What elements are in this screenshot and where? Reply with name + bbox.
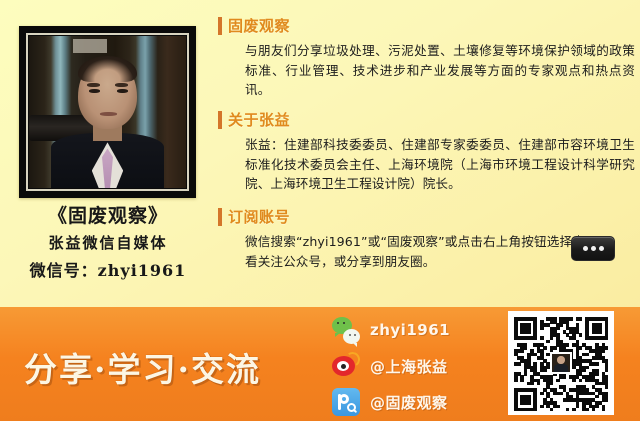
- section-subscribe: 订阅账号 微信搜索“zhyi1961”或“固废观察”或点击右上角按钮选择查看关注…: [218, 207, 638, 271]
- thumbnail-head: [557, 356, 564, 364]
- section-heading: 固废观察: [218, 16, 638, 36]
- thumbnail-body: [554, 364, 568, 372]
- profile-column: 《固废观察》 张益微信自媒体 微信号：zhyi1961: [0, 0, 216, 307]
- blue-app-icon: [332, 388, 360, 416]
- portrait-thumbnail: [550, 352, 572, 374]
- dot: [599, 246, 604, 251]
- profile-caption: 《固废观察》 张益微信自媒体 微信号：zhyi1961: [0, 203, 216, 285]
- account-subtitle: 张益微信自媒体: [0, 229, 216, 257]
- section-heading: 订阅账号: [218, 207, 638, 227]
- footer-slogan: 分享·学习·交流: [24, 343, 261, 391]
- dot: [349, 334, 351, 336]
- social-row-wechat[interactable]: zhyi1961: [332, 312, 502, 348]
- account-title: 《固废观察》: [0, 203, 216, 229]
- section-body: 微信搜索“zhyi1961”或“固废观察”或点击右上角按钮选择查看关注公众号，或…: [245, 232, 585, 271]
- social-label: zhyi1961: [370, 321, 450, 339]
- social-label: @上海张益: [370, 356, 448, 377]
- social-label: @固废观察: [370, 392, 448, 413]
- wechat-bubble-small: [343, 329, 360, 344]
- dot: [583, 246, 588, 251]
- wechat-icon: [332, 316, 360, 344]
- section-body: 与朋友们分享垃圾处理、污泥处置、土壤修复等环境保护领域的政策标准、行业管理、技术…: [245, 41, 635, 100]
- social-links: zhyi1961 @上海张益 @固废观察: [332, 312, 502, 420]
- account-wechat-id: 微信号：zhyi1961: [0, 257, 216, 285]
- magnifier-icon: [347, 403, 356, 412]
- info-column: 固废观察 与朋友们分享垃圾处理、污泥处置、土壤修复等环境保护领域的政策标准、行业…: [218, 0, 638, 307]
- section-about-zhangyi: 关于张益 张益：住建部科技委委员、住建部专家委委员、住建部市容环境卫生标准化技术…: [218, 110, 638, 194]
- promo-poster: 《固废观察》 张益微信自媒体 微信号：zhyi1961 固废观察 与朋友们分享垃…: [0, 0, 640, 421]
- social-row-weibo[interactable]: @上海张益: [332, 348, 502, 384]
- letter-p-bowl: [339, 394, 349, 404]
- section-heading: 关于张益: [218, 110, 638, 130]
- social-row-blue-app[interactable]: @固废观察: [332, 384, 502, 420]
- weibo-eye-pupil: [341, 364, 346, 369]
- weibo-icon: [332, 352, 360, 380]
- wechat-qr-code[interactable]: [508, 311, 614, 415]
- photo-inner-border: [26, 33, 189, 191]
- dot: [591, 246, 596, 251]
- dot: [354, 334, 356, 336]
- section-gufei-guancha: 固废观察 与朋友们分享垃圾处理、污泥处置、土壤修复等环境保护领域的政策标准、行业…: [218, 16, 638, 100]
- qr-matrix: [514, 317, 608, 409]
- portrait-photo-frame: [19, 26, 196, 198]
- section-body: 张益：住建部科技委委员、住建部专家委委员、住建部市容环境卫生标准化技术委员会主任…: [245, 135, 635, 194]
- ellipsis-icon[interactable]: [571, 236, 615, 261]
